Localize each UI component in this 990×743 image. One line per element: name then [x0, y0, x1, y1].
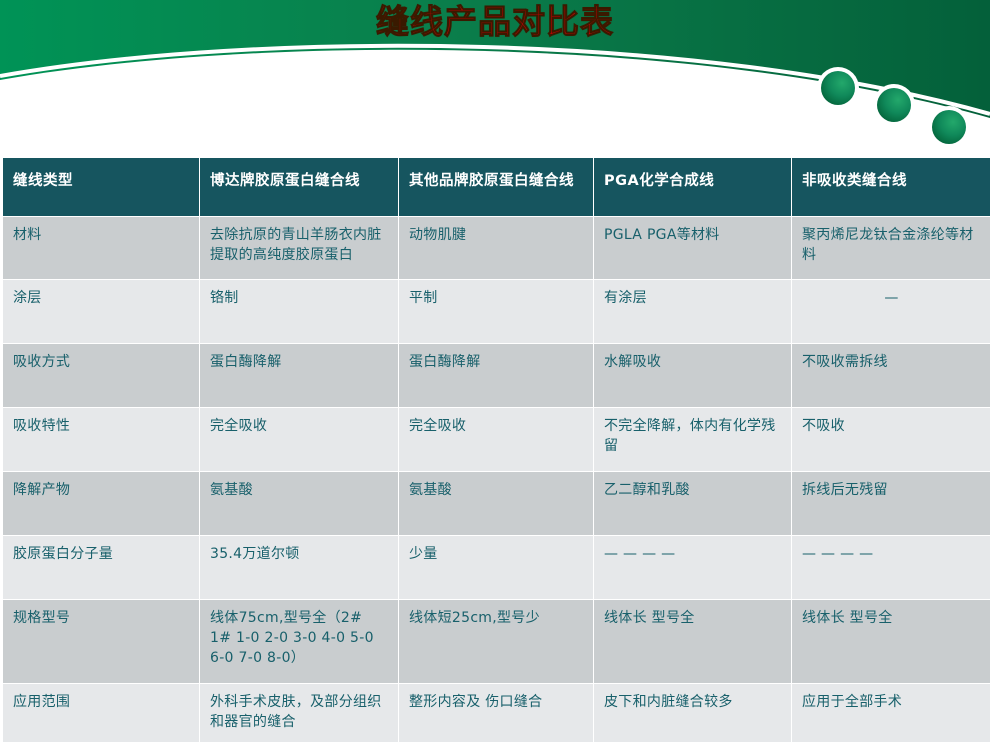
- cell-collagen-molecular-weight-other: 少量: [399, 536, 593, 599]
- table-row: 吸收特性 完全吸收 完全吸收 不完全降解，体内有化学残留 不吸收: [3, 408, 990, 471]
- cell-absorption-mode-nonabs: 不吸收需拆线: [792, 344, 990, 407]
- cell-material-nonabs: 聚丙烯尼龙钛合金涤纶等材料: [792, 217, 990, 279]
- cell-application-scope-boda: 外科手术皮肤，及部分组织和器官的缝合: [200, 684, 398, 742]
- cell-absorption-mode-boda: 蛋白酶降解: [200, 344, 398, 407]
- page-title: 缝线产品对比表: [0, 2, 990, 42]
- cell-degradation-product-boda: 氨基酸: [200, 472, 398, 535]
- column-header-boda-collagen: 博达牌胶原蛋白缝合线: [200, 158, 398, 216]
- table-row: 胶原蛋白分子量 35.4万道尔顿 少量 — — — — — — — —: [3, 536, 990, 599]
- cell-material-other: 动物肌腱: [399, 217, 593, 279]
- row-label-degradation-product: 降解产物: [3, 472, 199, 535]
- table-row: 涂层 铬制 平制 有涂层 —: [3, 280, 990, 343]
- cell-coating-nonabs: —: [792, 280, 990, 343]
- cell-coating-boda: 铬制: [200, 280, 398, 343]
- cell-coating-pga: 有涂层: [594, 280, 791, 343]
- cell-specification-nonabs: 线体长 型号全: [792, 600, 990, 683]
- table-row: 应用范围 外科手术皮肤，及部分组织和器官的缝合 整形内容及 伤口缝合 皮下和内脏…: [3, 684, 990, 742]
- column-header-other-collagen: 其他品牌胶原蛋白缝合线: [399, 158, 593, 216]
- cell-application-scope-pga: 皮下和内脏缝合较多: [594, 684, 791, 742]
- cell-collagen-molecular-weight-boda: 35.4万道尔顿: [200, 536, 398, 599]
- cell-material-pga: PGLA PGA等材料: [594, 217, 791, 279]
- row-label-absorption-mode: 吸收方式: [3, 344, 199, 407]
- cell-specification-other: 线体短25cm,型号少: [399, 600, 593, 683]
- table-body: 材料 去除抗原的青山羊肠衣内脏提取的高纯度胶原蛋白 动物肌腱 PGLA PGA等…: [3, 217, 990, 742]
- column-header-non-absorbable: 非吸收类缝合线: [792, 158, 990, 216]
- cell-degradation-product-other: 氨基酸: [399, 472, 593, 535]
- column-header-pga-synthetic: PGA化学合成线: [594, 158, 791, 216]
- table-header: 缝线类型 博达牌胶原蛋白缝合线 其他品牌胶原蛋白缝合线 PGA化学合成线 非吸收…: [3, 158, 990, 216]
- decorative-circle-3: [932, 110, 966, 144]
- cell-absorption-mode-pga: 水解吸收: [594, 344, 791, 407]
- cell-collagen-molecular-weight-pga: — — — —: [594, 536, 791, 599]
- cell-degradation-product-nonabs: 拆线后无残留: [792, 472, 990, 535]
- cell-application-scope-nonabs: 应用于全部手术: [792, 684, 990, 742]
- row-label-absorption-property: 吸收特性: [3, 408, 199, 471]
- decorative-circle-2: [877, 88, 911, 122]
- cell-absorption-property-pga: 不完全降解，体内有化学残留: [594, 408, 791, 471]
- table-row: 降解产物 氨基酸 氨基酸 乙二醇和乳酸 拆线后无残留: [3, 472, 990, 535]
- cell-absorption-property-nonabs: 不吸收: [792, 408, 990, 471]
- decorative-circle-1: [821, 71, 855, 105]
- table-header-row: 缝线类型 博达牌胶原蛋白缝合线 其他品牌胶原蛋白缝合线 PGA化学合成线 非吸收…: [3, 158, 990, 216]
- column-header-suture-type: 缝线类型: [3, 158, 199, 216]
- cell-absorption-property-other: 完全吸收: [399, 408, 593, 471]
- cell-degradation-product-pga: 乙二醇和乳酸: [594, 472, 791, 535]
- table-row: 材料 去除抗原的青山羊肠衣内脏提取的高纯度胶原蛋白 动物肌腱 PGLA PGA等…: [3, 217, 990, 279]
- row-label-specification: 规格型号: [3, 600, 199, 683]
- row-label-application-scope: 应用范围: [3, 684, 199, 742]
- table-row: 吸收方式 蛋白酶降解 蛋白酶降解 水解吸收 不吸收需拆线: [3, 344, 990, 407]
- cell-specification-boda: 线体75cm,型号全（2# 1# 1-0 2-0 3-0 4-0 5-0 6-0…: [200, 600, 398, 683]
- row-label-material: 材料: [3, 217, 199, 279]
- cell-specification-pga: 线体长 型号全: [594, 600, 791, 683]
- cell-coating-other: 平制: [399, 280, 593, 343]
- cell-application-scope-other: 整形内容及 伤口缝合: [399, 684, 593, 742]
- table-row: 规格型号 线体75cm,型号全（2# 1# 1-0 2-0 3-0 4-0 5-…: [3, 600, 990, 683]
- cell-collagen-molecular-weight-nonabs: — — — —: [792, 536, 990, 599]
- row-label-collagen-molecular-weight: 胶原蛋白分子量: [3, 536, 199, 599]
- cell-material-boda: 去除抗原的青山羊肠衣内脏提取的高纯度胶原蛋白: [200, 217, 398, 279]
- cell-absorption-property-boda: 完全吸收: [200, 408, 398, 471]
- row-label-coating: 涂层: [3, 280, 199, 343]
- suture-comparison-table: 缝线类型 博达牌胶原蛋白缝合线 其他品牌胶原蛋白缝合线 PGA化学合成线 非吸收…: [2, 157, 990, 743]
- cell-absorption-mode-other: 蛋白酶降解: [399, 344, 593, 407]
